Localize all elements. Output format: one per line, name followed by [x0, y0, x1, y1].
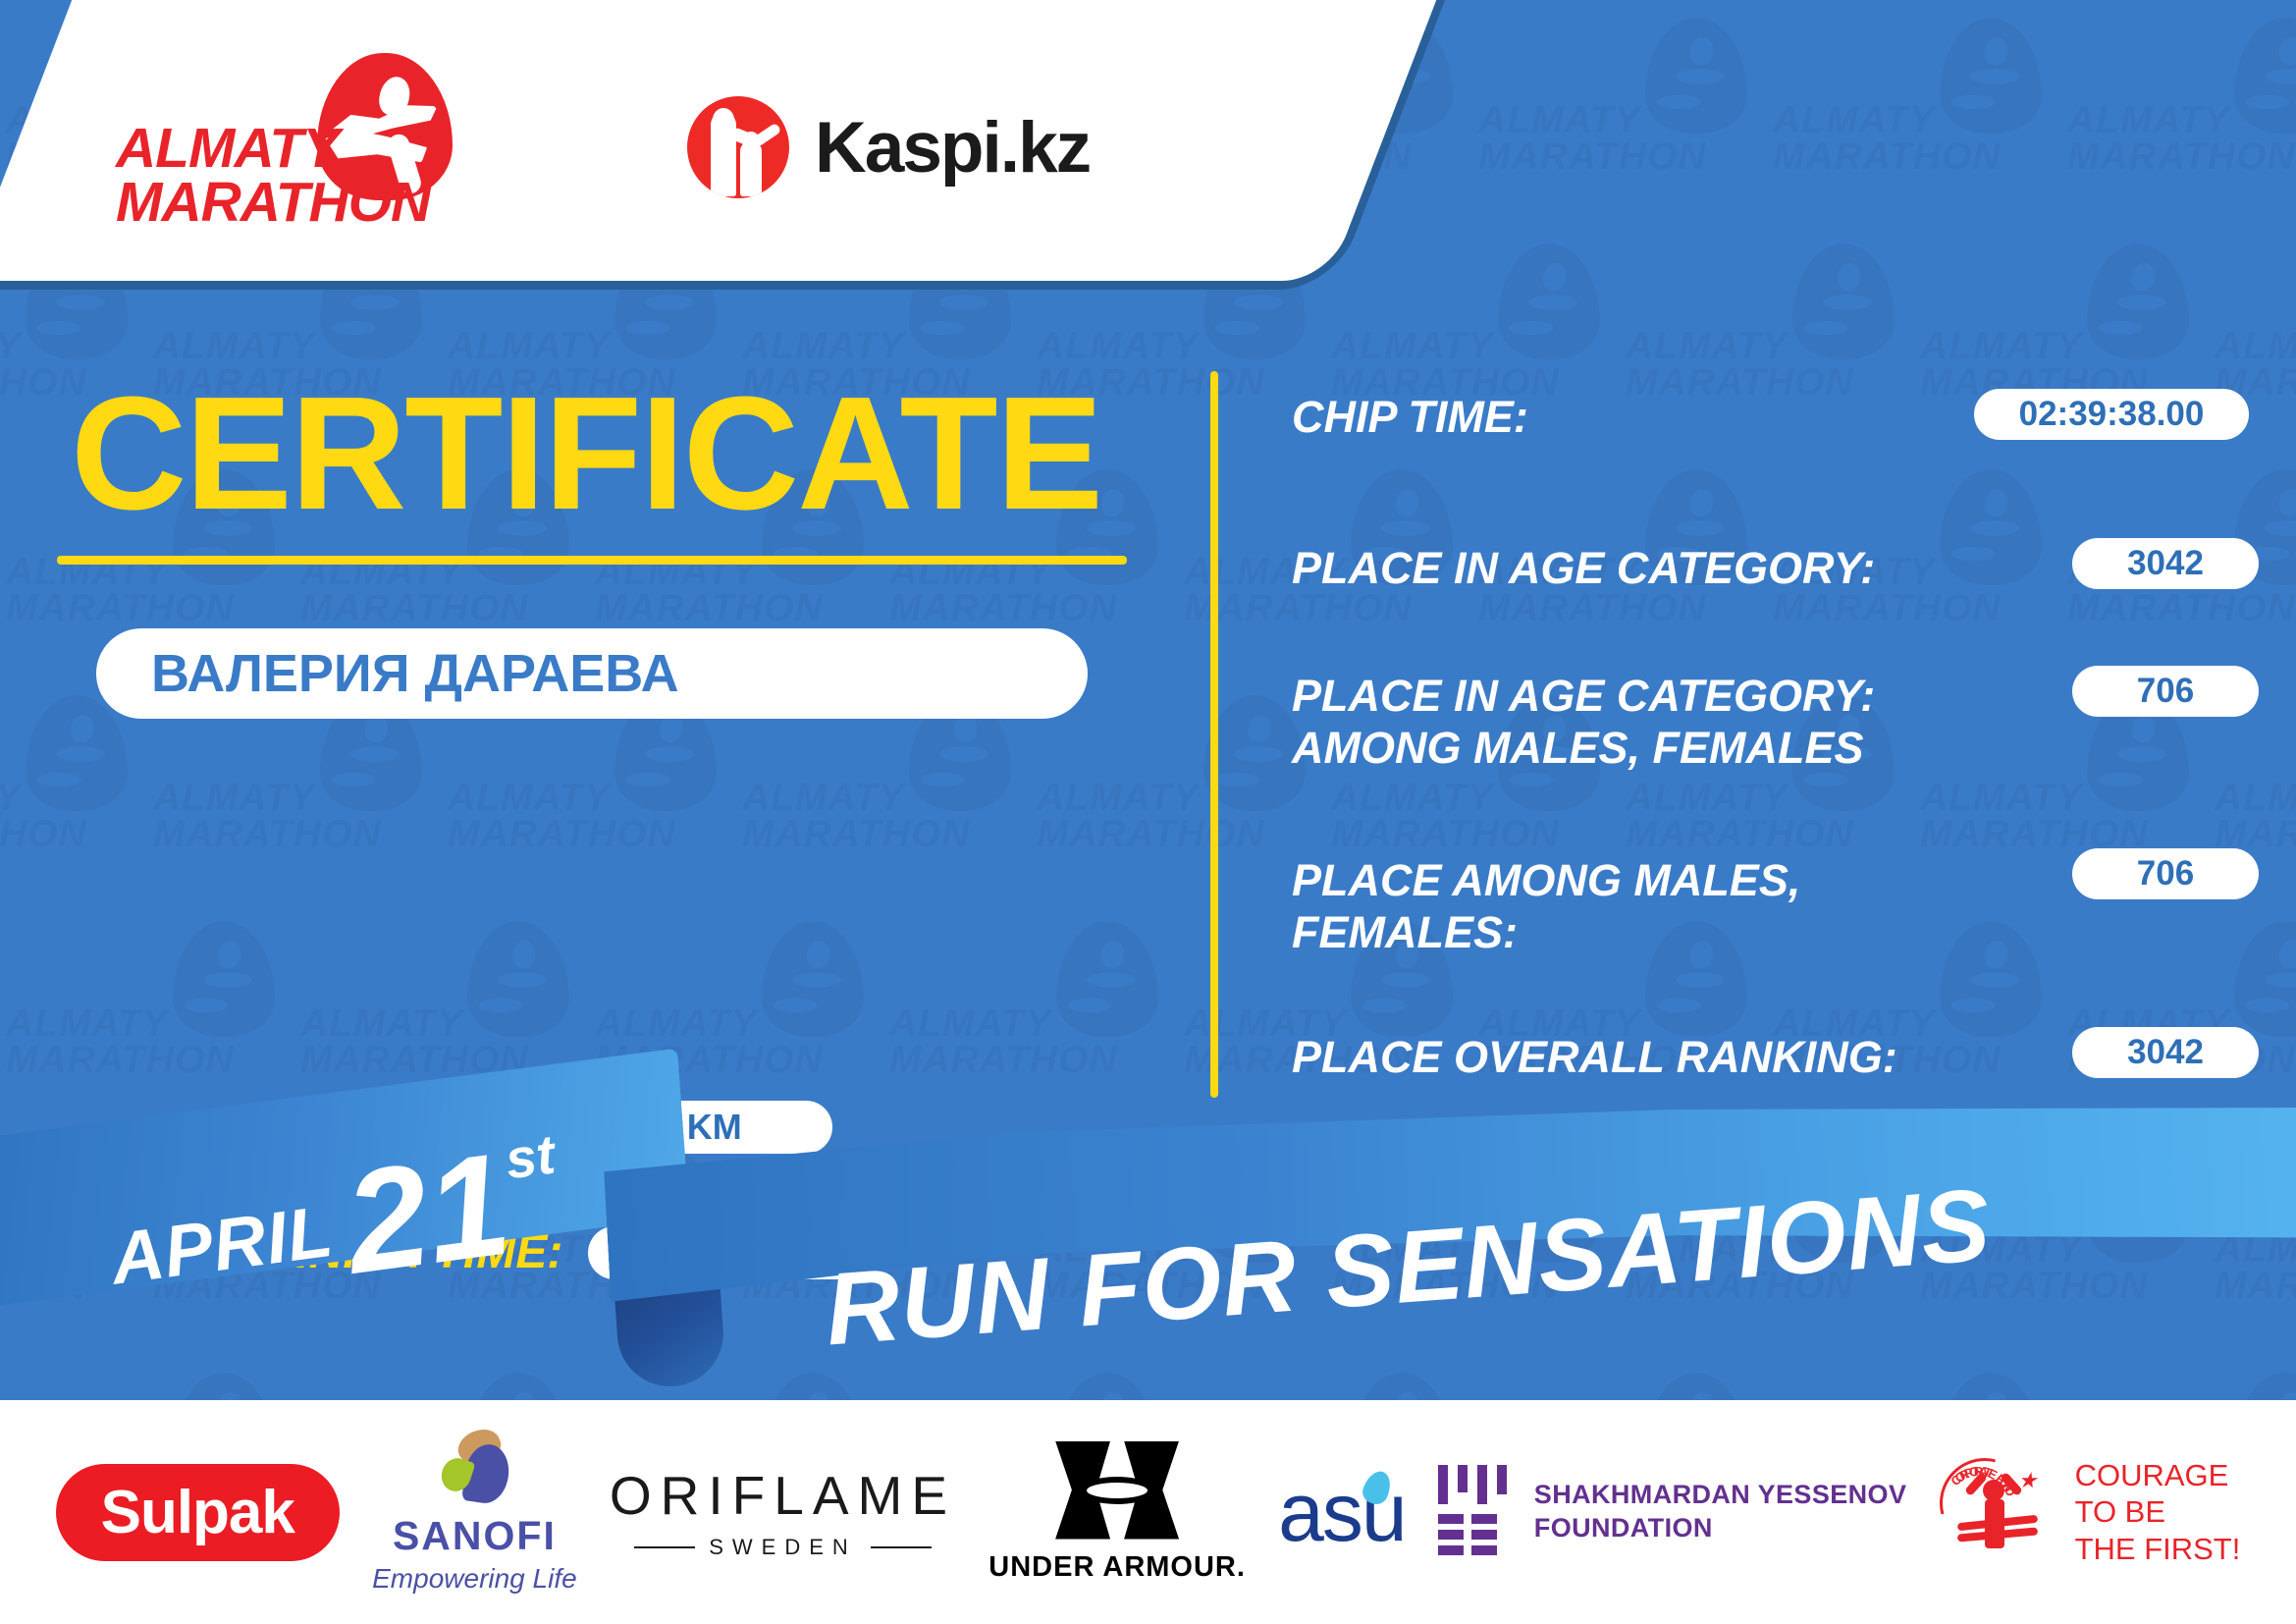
event-day: 21	[340, 1144, 515, 1283]
oriflame-tagline: SWEDEN	[709, 1535, 857, 1560]
sponsor-logo-asu: asu	[1278, 1465, 1405, 1560]
sanofi-label: SANOFI	[393, 1513, 557, 1559]
kaspi-logo-text: Kaspi.kz	[815, 107, 1090, 189]
stat-value-pill: 706	[2072, 666, 2259, 717]
sulpak-label: Sulpak	[101, 1478, 294, 1547]
watermark-tile: ALMATYMARATHON	[1031, 677, 1325, 903]
sponsor-logo-yessenov-foundation: SHAKHMARDAN YESSENOV FOUNDATION	[1438, 1465, 1907, 1559]
vertical-divider	[1210, 371, 1218, 1098]
watermark-tile: ALMATYMARATHON	[1620, 226, 1914, 452]
page-title: CERTIFICATE	[71, 373, 1101, 534]
oriflame-label: ORIFLAME	[610, 1464, 956, 1527]
watermark-tile: ALMATYMARATHON	[1472, 0, 1767, 226]
participant-name-field: ВАЛЕРИЯ ДАРАЕВА	[96, 628, 1088, 719]
under-armour-icon	[1055, 1441, 1179, 1540]
almaty-marathon-logo-text: ALMATY MARATHON	[116, 122, 430, 229]
sponsor-logo-oriflame: ORIFLAME SWEDEN	[610, 1464, 956, 1560]
sponsor-logo-sanofi: SANOFI Empowering Life	[372, 1431, 577, 1595]
kaspi-logo: Kaspi.kz	[687, 93, 1090, 201]
yessenov-label-wrap: SHAKHMARDAN YESSENOV FOUNDATION	[1534, 1479, 1907, 1545]
stat-row-place-age-category: PLACE IN AGE CATEGORY: 3042	[1292, 542, 1875, 594]
stat-label: PLACE OVERALL RANKING:	[1292, 1031, 1897, 1083]
sponsor-logo-under-armour: UNDER ARMOUR.	[988, 1441, 1246, 1584]
sponsor-strip: Sulpak SANOFI Empowering Life ORIFLAME S…	[0, 1400, 2296, 1624]
participant-name: ВАЛЕРИЯ ДАРАЕВА	[151, 643, 679, 704]
title-underline	[57, 556, 1127, 565]
stat-row-place-overall-ranking: PLACE OVERALL RANKING: 3042	[1292, 1031, 1897, 1083]
stat-row-place-among-males-females: PLACE AMONG MALES,FEMALES: 706	[1292, 854, 1800, 958]
stat-label: PLACE AMONG MALES,FEMALES:	[1292, 854, 1800, 958]
stat-value: 3042	[2127, 544, 2204, 583]
almaty-marathon-line2: MARATHON	[116, 176, 430, 230]
under-armour-label: UNDER ARMOUR.	[988, 1551, 1246, 1584]
yessenov-tagline: FOUNDATION	[1534, 1513, 1713, 1543]
stat-value: 02:39:38.00	[2019, 395, 2205, 434]
watermark-tile: ALMATYMARATHON	[1767, 0, 2061, 226]
event-month: APRIL	[106, 1189, 338, 1301]
event-ribbon: APRIL 21 st RUN FOR SENSATIONS	[0, 1090, 2296, 1414]
stat-value: 706	[2137, 672, 2194, 711]
courage-runner-icon: CORPORATE FUND ★	[1940, 1458, 2057, 1566]
stat-value-pill: 3042	[2072, 1027, 2259, 1078]
stat-row-chip-time: CHIP TIME: 02:39:38.00	[1292, 391, 1528, 443]
sponsor-logo-courage-fund: CORPORATE FUND ★ COURAGETO BETHE FIRST!	[1940, 1457, 2241, 1567]
almaty-marathon-line1: ALMATY	[116, 122, 430, 176]
event-day-suffix: st	[502, 1121, 559, 1191]
oriflame-sub: SWEDEN	[634, 1535, 932, 1560]
stat-label: PLACE IN AGE CATEGORY:	[1292, 542, 1875, 594]
sponsor-logo-sulpak: Sulpak	[56, 1464, 340, 1561]
yessenov-label: SHAKHMARDAN YESSENOV	[1534, 1480, 1907, 1509]
stat-value: 706	[2137, 854, 2194, 893]
stat-value-pill: 706	[2072, 848, 2259, 899]
courage-tagline: COURAGETO BETHE FIRST!	[2075, 1457, 2241, 1567]
stat-value-pill: 3042	[2072, 538, 2259, 589]
sanofi-tagline: Empowering Life	[372, 1563, 577, 1595]
stat-row-place-age-category-among: PLACE IN AGE CATEGORY:AMONG MALES, FEMAL…	[1292, 670, 1875, 774]
watermark-tile: ALMATYMARATHON	[2061, 0, 2296, 226]
certificate-canvas: ALMATYMARATHONALMATYMARATHONALMATYMARATH…	[0, 0, 2296, 1624]
stat-label: CHIP TIME:	[1292, 391, 1528, 443]
stat-value-pill: 02:39:38.00	[1974, 389, 2249, 440]
yessenov-icon	[1438, 1465, 1511, 1559]
stat-value: 3042	[2127, 1033, 2204, 1072]
almaty-marathon-logo: ALMATY MARATHON	[116, 61, 450, 218]
certificate-header: ALMATY MARATHON Kaspi.kz	[0, 0, 1320, 281]
stat-label: PLACE IN AGE CATEGORY:AMONG MALES, FEMAL…	[1292, 670, 1875, 774]
sanofi-icon	[438, 1431, 510, 1507]
kaspi-family-icon	[687, 96, 789, 198]
